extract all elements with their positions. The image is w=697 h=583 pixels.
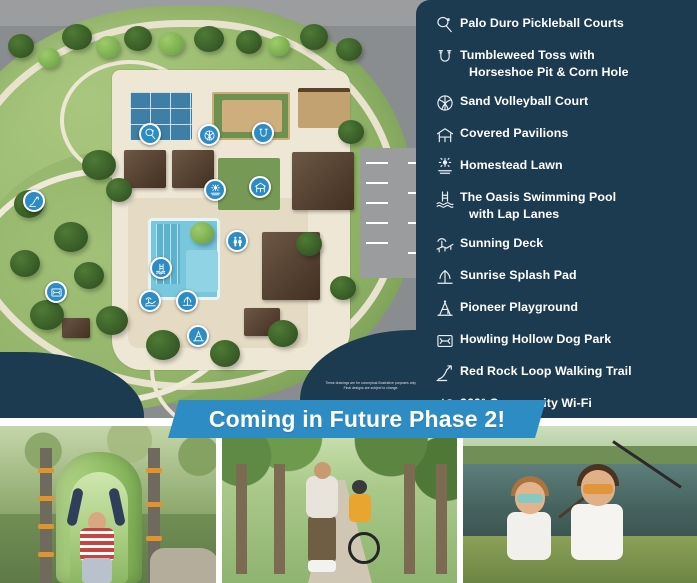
horseshoe-icon — [430, 44, 460, 70]
splash-pad-icon — [430, 264, 460, 290]
marker-volleyball[interactable] — [198, 124, 220, 146]
marker-horseshoe[interactable] — [252, 122, 274, 144]
photo-bike-riding — [222, 424, 457, 583]
marker-homestead-lawn[interactable] — [204, 179, 226, 201]
site-plan-infographic: These drawings are for conceptual illust… — [0, 0, 697, 583]
amenities-legend-panel: Palo Duro Pickleball Courts Tumbleweed T… — [416, 0, 697, 400]
legend-label: Covered Pavilions — [460, 122, 568, 142]
legend-item-sand-volleyball[interactable]: Sand Volleyball Court — [430, 90, 692, 116]
sun-lounger-icon — [430, 232, 460, 258]
legend-label: Homestead Lawn — [460, 154, 563, 174]
map-tree — [296, 232, 322, 256]
marker-walking-trail[interactable] — [23, 190, 45, 212]
legend-item-playground[interactable]: Pioneer Playground — [430, 296, 692, 322]
map-tree — [330, 276, 356, 300]
map-splash-pad — [186, 250, 218, 292]
map-tree — [268, 36, 290, 56]
legend-item-pickleball[interactable]: Palo Duro Pickleball Courts — [430, 12, 692, 38]
lawn-sun-icon — [430, 154, 460, 180]
legend-item-walking-trail[interactable]: Red Rock Loop Walking Trail — [430, 360, 692, 386]
map-tree — [82, 150, 116, 180]
map-tree — [338, 120, 364, 144]
map-tree — [38, 48, 60, 68]
map-sand-volleyball — [222, 100, 282, 132]
legend-item-swimming-pool[interactable]: The Oasis Swimming Pool with Lap Lanes — [430, 186, 692, 222]
marker-pavilion[interactable] — [249, 176, 271, 198]
phase-2-banner: Coming in Future Phase 2! — [168, 400, 546, 438]
marker-restrooms[interactable] — [226, 230, 248, 252]
legend-item-splash-pad[interactable]: Sunrise Splash Pad — [430, 264, 692, 290]
marker-splash-pad[interactable] — [176, 290, 198, 312]
legend-label: Howling Hollow Dog Park — [460, 328, 611, 348]
marker-playground[interactable] — [187, 325, 209, 347]
map-building-3 — [292, 152, 354, 210]
legend-item-dog-park[interactable]: Howling Hollow Dog Park — [430, 328, 692, 354]
legend-list: Palo Duro Pickleball Courts Tumbleweed T… — [430, 12, 692, 456]
map-building-6 — [62, 318, 90, 338]
map-tree — [146, 330, 180, 360]
legend-item-tumbleweed-toss[interactable]: Tumbleweed Toss with Horseshoe Pit & Cor… — [430, 44, 692, 80]
map-tree — [210, 340, 240, 367]
walking-trail-icon — [430, 360, 460, 386]
legend-label: Sunning Deck — [460, 232, 543, 252]
legend-label: Pioneer Playground — [460, 296, 578, 316]
phase-2-banner-text: Coming in Future Phase 2! — [209, 406, 505, 433]
map-disclaimer: These drawings are for conceptual illust… — [316, 381, 426, 390]
map-tree — [106, 178, 132, 202]
marker-dog-park[interactable] — [45, 281, 67, 303]
map-tree — [54, 222, 88, 252]
map-tree — [190, 222, 214, 244]
map-tree — [10, 250, 40, 277]
pavilion-icon — [430, 122, 460, 148]
legend-label: Sand Volleyball Court — [460, 90, 588, 110]
marker-swimming-pool[interactable] — [150, 257, 172, 279]
map-tree — [194, 26, 224, 52]
marker-sunning-deck[interactable] — [139, 290, 161, 312]
legend-label: Tumbleweed Toss with Horseshoe Pit & Cor… — [460, 44, 629, 80]
legend-item-homestead-lawn[interactable]: Homestead Lawn — [430, 154, 692, 180]
map-tree — [30, 300, 64, 330]
legend-label: Red Rock Loop Walking Trail — [460, 360, 632, 380]
legend-label: Sunrise Splash Pad — [460, 264, 577, 284]
site-plan-map[interactable]: These drawings are for conceptual illust… — [0, 0, 440, 420]
swimming-pool-icon — [430, 186, 460, 212]
marker-pickleball[interactable] — [139, 123, 161, 145]
legend-item-sunning-deck[interactable]: Sunning Deck — [430, 232, 692, 258]
map-tree — [158, 32, 184, 55]
map-building-1 — [124, 150, 166, 188]
dog-park-icon — [430, 328, 460, 354]
map-tree — [8, 34, 34, 58]
pickleball-paddle-icon — [430, 12, 460, 38]
map-tree — [336, 38, 362, 61]
map-tree — [124, 26, 152, 51]
volleyball-icon — [430, 90, 460, 116]
map-tree — [62, 24, 92, 50]
map-tree — [96, 306, 128, 335]
map-tree — [300, 24, 328, 50]
photo-playground-slide — [0, 424, 216, 583]
map-tree — [268, 320, 298, 347]
yellow-diagonal-accent — [587, 473, 697, 583]
legend-item-covered-pavilions[interactable]: Covered Pavilions — [430, 122, 692, 148]
map-tree — [96, 36, 120, 58]
playground-icon — [430, 296, 460, 322]
legend-label: The Oasis Swimming Pool with Lap Lanes — [460, 186, 616, 222]
map-tree — [74, 262, 104, 289]
map-tree — [236, 30, 262, 54]
legend-label: Palo Duro Pickleball Courts — [460, 12, 624, 32]
